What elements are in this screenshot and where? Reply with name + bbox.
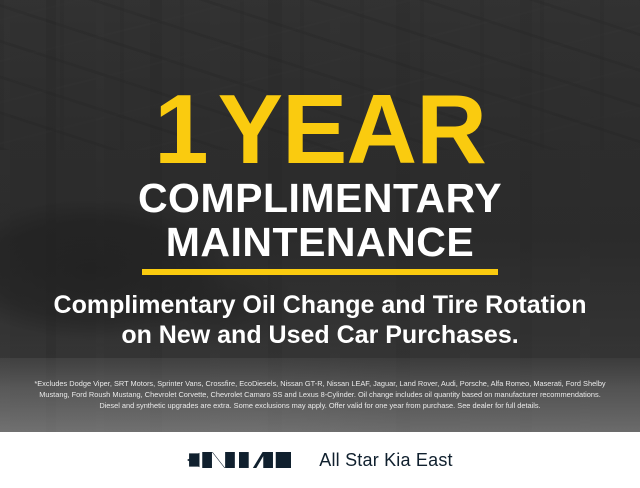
offer-subhead-line-1: Complimentary Oil Change and Tire Rotati… <box>0 290 640 320</box>
banner-footer: All Star Kia East <box>0 432 640 488</box>
disclaimer-line-2: Mustang, Ford Roush Mustang, Chevrolet C… <box>14 389 626 400</box>
kia-logo <box>187 449 291 471</box>
dealer-name: All Star Kia East <box>319 450 452 471</box>
headline-complimentary: COMPLIMENTARY <box>0 176 640 220</box>
yellow-divider-rule <box>142 269 498 275</box>
headline-year: 1YEAR <box>0 80 640 178</box>
headline-maintenance: MAINTENANCE <box>0 220 640 264</box>
offer-subhead: Complimentary Oil Change and Tire Rotati… <box>0 290 640 350</box>
headline-year-word: YEAR <box>218 74 486 184</box>
promo-banner: 1YEAR COMPLIMENTARY MAINTENANCE Complime… <box>0 0 640 488</box>
disclaimer-text: *Excludes Dodge Viper, SRT Motors, Sprin… <box>14 378 626 411</box>
headline-kicker: COMPLIMENTARY MAINTENANCE <box>0 176 640 264</box>
offer-subhead-line-2: on New and Used Car Purchases. <box>0 320 640 350</box>
banner-content: 1YEAR COMPLIMENTARY MAINTENANCE Complime… <box>0 0 640 432</box>
headline-number: 1 <box>154 74 208 184</box>
disclaimer-line-1: *Excludes Dodge Viper, SRT Motors, Sprin… <box>14 378 626 389</box>
disclaimer-line-3: Diesel and synthetic upgrades are extra.… <box>14 400 626 411</box>
